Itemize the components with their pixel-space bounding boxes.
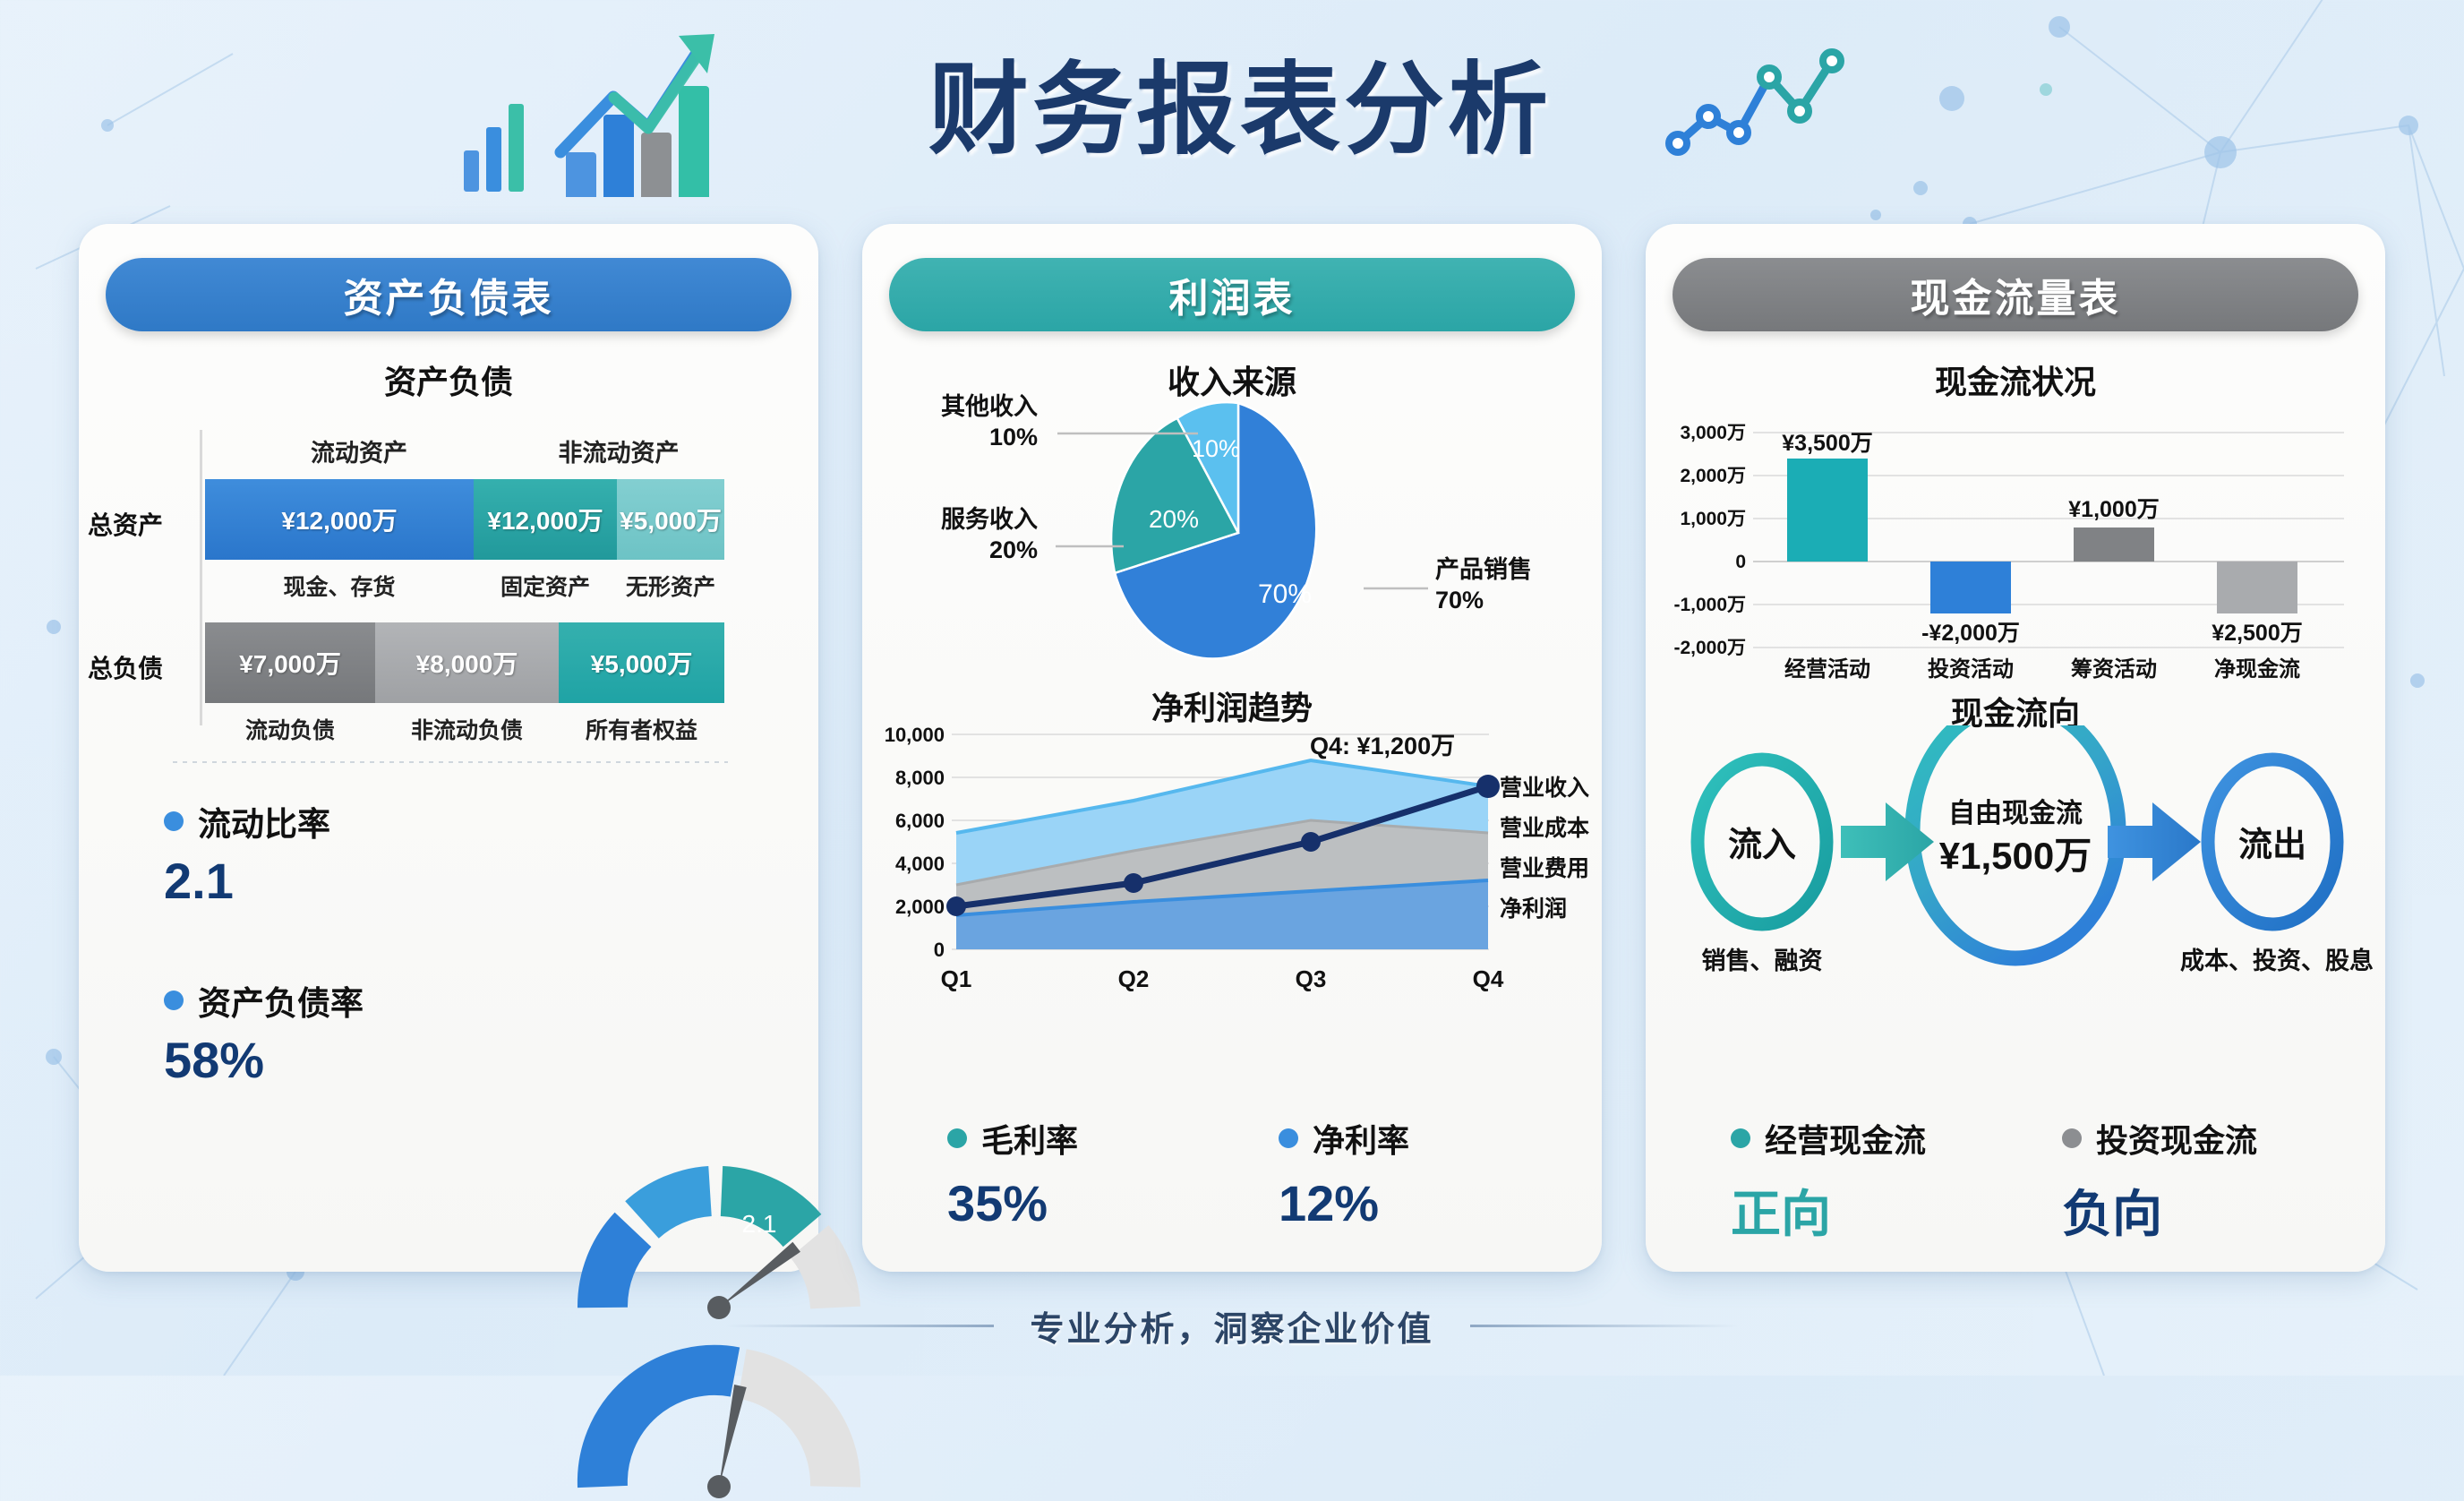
xtick-financing: 筹资活动 bbox=[2071, 656, 2157, 682]
kpi-label-net-margin: 净利率 bbox=[1313, 1115, 1409, 1162]
segment-current-liabilities: ¥7,000万 bbox=[205, 622, 375, 703]
sublabel-owners-equity: 所有者权益 bbox=[559, 713, 724, 745]
pie-slice-label-service: 20% bbox=[1149, 505, 1199, 533]
card-title-balance-sheet: 资产负债表 bbox=[106, 258, 791, 331]
bar-label-investing: -¥2,000万 bbox=[1921, 621, 2020, 646]
flow-sub-inflow: 销售、融资 bbox=[1702, 947, 1823, 974]
kpi-debt-ratio: 资产负债率 58% bbox=[164, 976, 364, 1085]
row-label-total-liabilities: 总负债 bbox=[88, 649, 163, 685]
ytick-6000: 6,000 bbox=[895, 810, 945, 832]
kpi-value-net-margin: 12% bbox=[1279, 1174, 1409, 1232]
xtick-q4: Q4 bbox=[1473, 965, 1504, 992]
ytick-3000: 3,000万 bbox=[1680, 423, 1746, 443]
segment-intangible-assets: ¥5,000万 bbox=[617, 479, 724, 560]
pie-chart-revenue-sources: 70% 20% 10% 其他收入 10% 服务收入 20% 产品销售 70% bbox=[862, 390, 1602, 676]
kpi-value-operating-cash-flow: 正向 bbox=[1731, 1174, 1926, 1247]
flow-sub-outflow: 成本、投资、股息 bbox=[2180, 947, 2374, 974]
footer-tagline: 专业分析，洞察企业价值 bbox=[1030, 1301, 1433, 1351]
bar-investing bbox=[1930, 562, 2011, 613]
legend-cost: 营业成本 bbox=[1500, 816, 1589, 841]
pie-callout-service-value: 20% bbox=[989, 536, 1038, 563]
pie-slice-label-product: 70% bbox=[1258, 579, 1312, 609]
kpi-operating-cash-flow: 经营现金流 正向 bbox=[1731, 1115, 1926, 1247]
bullet-dot-icon bbox=[2062, 1128, 2082, 1148]
row-label-total-assets: 总资产 bbox=[88, 506, 163, 542]
kpi-value-current-ratio: 2.1 bbox=[164, 856, 330, 906]
bar-chart-cash-flow: 3,000万 2,000万 1,000万 0 -1,000万 -2,000万 ¥… bbox=[1646, 390, 2385, 685]
bullet-dot-icon bbox=[947, 1128, 967, 1148]
legend-expense: 营业费用 bbox=[1500, 856, 1589, 881]
segment-owners-equity: ¥5,000万 bbox=[559, 622, 724, 703]
pie-callout-other-name: 其他收入 bbox=[941, 393, 1038, 420]
chart-axis bbox=[200, 430, 202, 725]
sublabel-fixed-assets: 固定资产 bbox=[474, 570, 617, 602]
xtick-operating: 经营活动 bbox=[1784, 656, 1870, 682]
flow-label-inflow: 流入 bbox=[1728, 827, 1796, 864]
xtick-investing: 投资活动 bbox=[1928, 657, 2014, 682]
bullet-dot-icon bbox=[1731, 1128, 1750, 1148]
gauge-debt-ratio bbox=[576, 1334, 871, 1501]
kpi-value-investing-cash-flow: 负向 bbox=[2062, 1174, 2257, 1247]
kpi-gross-margin: 毛利率 35% bbox=[947, 1115, 1078, 1232]
page-title: 财务报表分析 bbox=[860, 25, 1621, 177]
ytick-4000: 4,000 bbox=[895, 853, 945, 875]
bar-operating bbox=[1787, 459, 1868, 562]
legend-revenue: 营业收入 bbox=[1500, 776, 1589, 801]
line-chart-zigzag-icon bbox=[1665, 18, 1898, 170]
segment-noncurrent-liabilities: ¥8,000万 bbox=[375, 622, 559, 703]
bar-row-total-assets: ¥12,000万 ¥12,000万 ¥5,000万 bbox=[205, 479, 724, 560]
xtick-q2: Q2 bbox=[1118, 965, 1150, 992]
ytick-0: 0 bbox=[934, 939, 945, 961]
page-header: 财务报表分析 bbox=[0, 0, 2464, 224]
pie-callout-other-value: 10% bbox=[989, 424, 1038, 450]
xtick-q1: Q1 bbox=[941, 965, 972, 992]
kpi-label-operating-cash-flow: 经营现金流 bbox=[1765, 1115, 1926, 1162]
card-balance-sheet[interactable]: 资产负债表 资产负债 流动资产 非流动资产 总资产 ¥12,000万 ¥12,0… bbox=[79, 224, 818, 1272]
flow-label-outflow: 流出 bbox=[2238, 827, 2306, 864]
ytick-2000: 2,000 bbox=[895, 896, 945, 918]
bullet-dot-icon bbox=[1279, 1128, 1298, 1148]
card-cash-flow-statement[interactable]: 现金流量表 现金流状况 3,000万 2,000万 1,000万 0 -1,00… bbox=[1646, 224, 2385, 1272]
card-title-income-statement: 利润表 bbox=[889, 258, 1575, 331]
ytick-2000: 2,000万 bbox=[1680, 466, 1746, 486]
column-header-current-assets: 流动资产 bbox=[225, 433, 493, 468]
pie-callout-product-value: 70% bbox=[1435, 587, 1484, 613]
cash-flow-diagram: 流入 自由现金流 ¥1,500万 流出 销售、融资 成本、投资、股息 bbox=[1646, 725, 2385, 1021]
section-title-assets-liabilities: 资产负债 bbox=[79, 356, 818, 403]
sublabel-noncurrent-liabilities: 非流动负债 bbox=[375, 713, 559, 745]
flow-value-free-cash-flow: ¥1,500万 bbox=[1939, 835, 2092, 877]
bar-row-total-liabilities: ¥7,000万 ¥8,000万 ¥5,000万 bbox=[205, 622, 724, 703]
bullet-dot-icon bbox=[164, 991, 184, 1010]
section-divider bbox=[173, 761, 728, 763]
segment-current-assets: ¥12,000万 bbox=[205, 479, 474, 560]
card-title-cash-flow: 现金流量表 bbox=[1673, 258, 2358, 331]
balance-sheet-chart: 流动资产 非流动资产 总资产 ¥12,000万 ¥12,000万 ¥5,000万… bbox=[79, 403, 818, 743]
kpi-label-current-ratio: 流动比率 bbox=[198, 797, 330, 845]
ytick-neg1000: -1,000万 bbox=[1673, 595, 1746, 615]
bar-chart-growth-icon bbox=[457, 18, 797, 197]
card-income-statement[interactable]: 利润表 收入来源 70% 20% 10% 其他收入 10% 服务收入 20% 产… bbox=[862, 224, 1602, 1272]
bullet-dot-icon bbox=[164, 811, 184, 831]
footer-rule-left bbox=[725, 1325, 994, 1327]
xtick-q3: Q3 bbox=[1296, 965, 1327, 992]
ytick-0: 0 bbox=[1735, 552, 1746, 572]
pie-callout-service-name: 服务收入 bbox=[941, 506, 1038, 533]
sublabel-current-liabilities: 流动负债 bbox=[205, 713, 375, 745]
column-header-noncurrent-assets: 非流动资产 bbox=[493, 433, 744, 468]
annotation-q4-net-profit: Q4: ¥1,200万 bbox=[1310, 733, 1455, 759]
page-footer: 专业分析，洞察企业价值 bbox=[0, 1294, 2464, 1357]
kpi-label-investing-cash-flow: 投资现金流 bbox=[2096, 1115, 2257, 1162]
kpi-net-margin: 净利率 12% bbox=[1279, 1115, 1409, 1232]
ytick-10000: 10,000 bbox=[885, 724, 945, 746]
bar-label-net-cash: ¥2,500万 bbox=[2212, 621, 2302, 646]
ytick-1000: 1,000万 bbox=[1680, 509, 1746, 529]
ytick-neg2000: -2,000万 bbox=[1673, 638, 1746, 658]
sublabel-intangible-assets: 无形资产 bbox=[617, 570, 724, 602]
pie-callout-product-name: 产品销售 bbox=[1435, 555, 1532, 583]
kpi-label-gross-margin: 毛利率 bbox=[981, 1115, 1078, 1162]
flow-label-free-cash-flow: 自由现金流 bbox=[1948, 798, 2083, 828]
bar-label-operating: ¥3,500万 bbox=[1782, 431, 1872, 456]
bar-label-financing: ¥1,000万 bbox=[2068, 497, 2159, 522]
kpi-current-ratio: 流动比率 2.1 bbox=[164, 797, 330, 906]
kpi-value-debt-ratio: 58% bbox=[164, 1035, 364, 1085]
kpi-investing-cash-flow: 投资现金流 负向 bbox=[2062, 1115, 2257, 1247]
area-chart-net-profit-trend: 10,000 8,000 6,000 4,000 2,000 0 Q4: ¥1,… bbox=[862, 716, 1602, 1039]
bar-net-cash bbox=[2217, 562, 2297, 613]
sublabel-cash-inventory: 现金、存货 bbox=[205, 570, 474, 602]
segment-fixed-assets: ¥12,000万 bbox=[474, 479, 617, 560]
footer-rule-right bbox=[1470, 1325, 1739, 1327]
bar-financing bbox=[2074, 527, 2154, 562]
pie-slice-label-other: 10% bbox=[1192, 435, 1240, 462]
ytick-8000: 8,000 bbox=[895, 767, 945, 789]
xtick-net-cash: 净现金流 bbox=[2214, 656, 2300, 682]
legend-net-profit: 净利润 bbox=[1500, 896, 1567, 922]
kpi-label-debt-ratio: 资产负债率 bbox=[198, 976, 364, 1025]
kpi-value-gross-margin: 35% bbox=[947, 1174, 1078, 1232]
gauge-value-label: 2.1 bbox=[742, 1210, 777, 1238]
